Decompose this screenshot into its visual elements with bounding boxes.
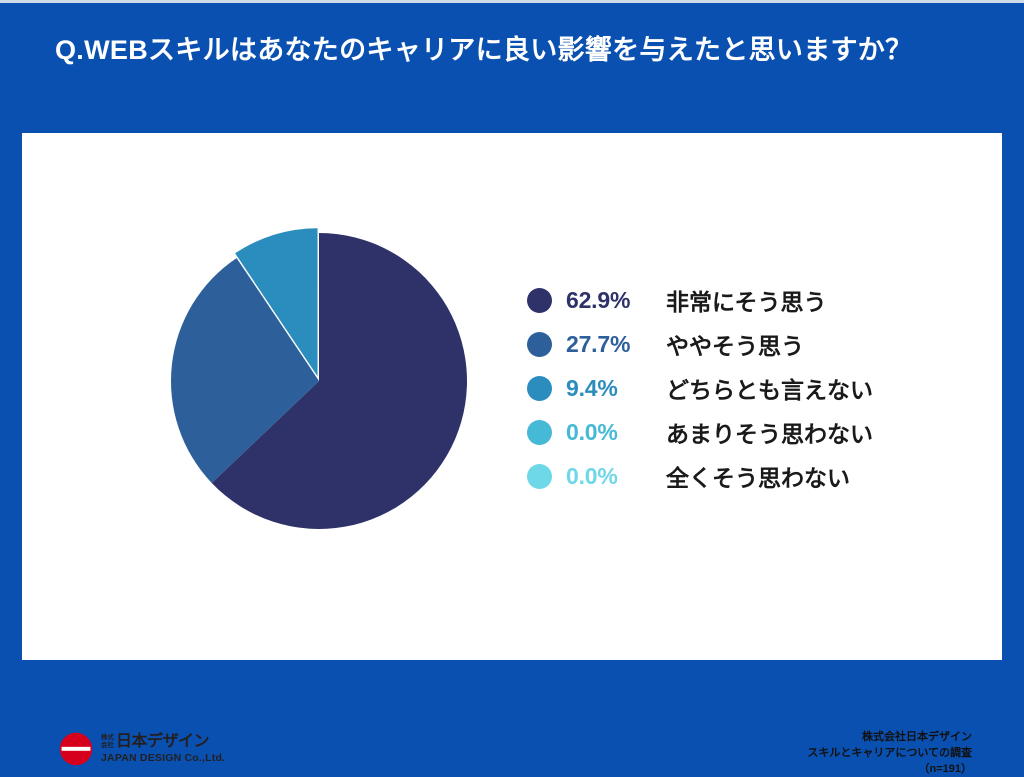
legend-item-1: 27.7% ややそう思う: [527, 322, 947, 366]
legend-percent: 27.7%: [566, 331, 652, 358]
brand-logo: 株式 会社 日本デザイン JAPAN DESIGN Co.,Ltd.: [58, 731, 225, 767]
legend-percent: 0.0%: [566, 419, 652, 446]
legend-swatch-icon: [527, 376, 552, 401]
credit-sample-size: （n=191）: [807, 761, 972, 777]
credit-company: 株式会社日本デザイン: [807, 729, 972, 745]
legend-item-4: 0.0% 全くそう思わない: [527, 454, 947, 498]
legend-percent: 0.0%: [566, 463, 652, 490]
content-card: 62.9% 非常にそう思う 27.7% ややそう思う 9.4% どちらとも言えな…: [22, 133, 1002, 660]
survey-credit: 株式会社日本デザイン スキルとキャリアについての調査 （n=191）: [807, 729, 972, 777]
legend-percent: 62.9%: [566, 287, 652, 314]
legend-swatch-icon: [527, 332, 552, 357]
legend-label: ややそう思う: [666, 327, 804, 361]
brand-logo-company-en: JAPAN DESIGN Co.,Ltd.: [101, 752, 225, 764]
legend-item-0: 62.9% 非常にそう思う: [527, 278, 947, 322]
legend-swatch-icon: [527, 420, 552, 445]
brand-logo-company-jp: 日本デザイン: [116, 734, 209, 750]
brand-logo-text: 株式 会社 日本デザイン JAPAN DESIGN Co.,Ltd.: [101, 734, 225, 764]
pie-slices: [171, 228, 467, 529]
legend-swatch-icon: [527, 464, 552, 489]
pie-chart-svg: [142, 223, 502, 553]
legend-percent: 9.4%: [566, 375, 652, 402]
brand-logo-jp: 株式 会社 日本デザイン: [101, 734, 225, 750]
legend-item-2: 9.4% どちらとも言えない: [527, 366, 947, 410]
legend-label: 非常にそう思う: [666, 283, 827, 317]
slide-background: Q.WEBスキルはあなたのキャリアに良い影響を与えたと思いますか？ 62.9% …: [0, 3, 1024, 683]
legend-label: どちらとも言えない: [666, 371, 873, 405]
credit-survey-name: スキルとキャリアについての調査: [807, 745, 972, 761]
chart-legend: 62.9% 非常にそう思う 27.7% ややそう思う 9.4% どちらとも言えな…: [527, 278, 947, 498]
legend-swatch-icon: [527, 288, 552, 313]
legend-label: あまりそう思わない: [666, 415, 873, 449]
pie-chart: [142, 223, 502, 553]
page-title: Q.WEBスキルはあなたのキャリアに良い影響を与えたと思いますか？: [55, 29, 955, 72]
brand-logo-kabushiki: 株式 会社: [101, 734, 114, 750]
japan-design-circle-icon: [58, 731, 94, 767]
legend-label: 全くそう思わない: [666, 459, 850, 493]
legend-item-3: 0.0% あまりそう思わない: [527, 410, 947, 454]
